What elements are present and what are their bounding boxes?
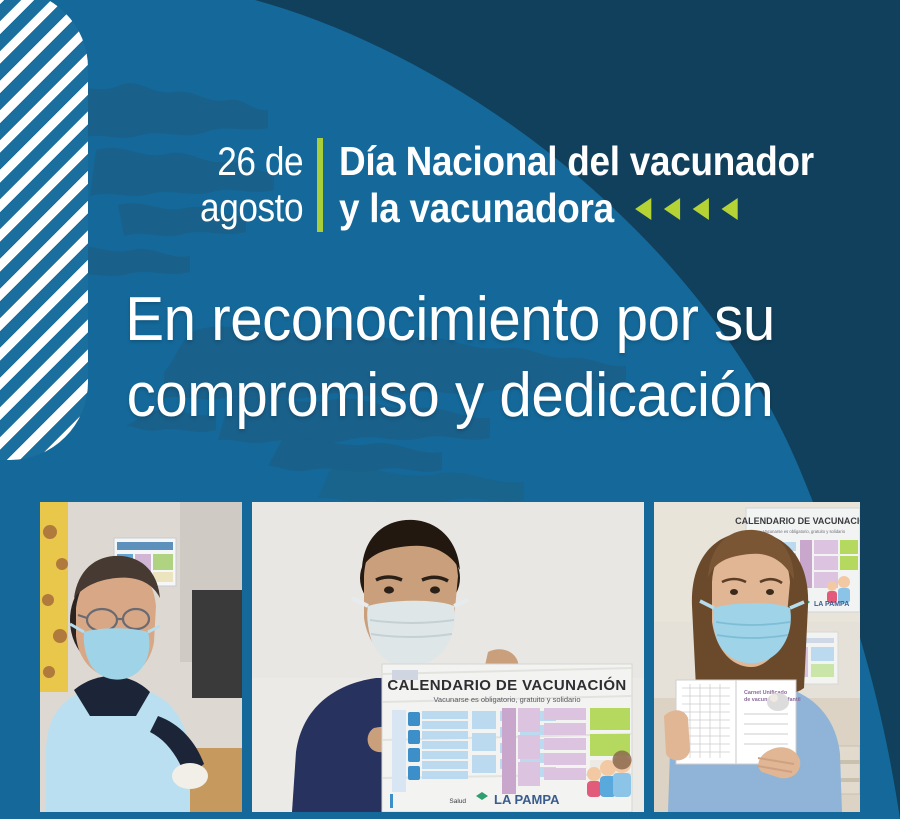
date-line-2: agosto	[200, 185, 303, 231]
poster-canvas: 26 de agosto Día Nacional del vacunador …	[0, 0, 900, 819]
green-divider-bar	[317, 138, 323, 232]
triangle-left-icon	[636, 198, 652, 220]
svg-text:LA PAMPA: LA PAMPA	[494, 792, 560, 807]
headline-line-2: compromiso y dedicación	[27, 358, 873, 434]
photo-vaccinator-holding-calendar: CALENDARIO DE VACUNACIÓN Vacunarse es ob…	[252, 502, 644, 812]
header-title-block: 26 de agosto Día Nacional del vacunador …	[186, 138, 867, 232]
date-line-1: 26 de	[200, 139, 303, 185]
date-column: 26 de agosto	[186, 138, 317, 232]
main-headline: En reconocimiento por su compromiso y de…	[0, 282, 900, 434]
triangle-left-icon	[722, 198, 738, 220]
photo-strip: CALENDARIO DE VACUNACIÓN Vacunarse es ob…	[40, 502, 864, 812]
title-line-2-wrapper: y la vacunadora	[339, 185, 814, 232]
svg-text:LA PAMPA: LA PAMPA	[814, 601, 849, 608]
triangle-left-icon	[693, 198, 709, 220]
svg-text:Salud: Salud	[449, 798, 466, 805]
svg-text:Vacunarse es obligatorio, grat: Vacunarse es obligatorio, gratuito y sol…	[763, 529, 846, 534]
headline-line-1: En reconocimiento por su	[27, 282, 873, 358]
svg-text:CALENDARIO DE VACUNACIÓN: CALENDARIO DE VACUNACIÓN	[387, 676, 626, 694]
title-line-1: Día Nacional del vacunador	[339, 138, 814, 185]
arrow-group	[636, 198, 739, 220]
title-column: Día Nacional del vacunador y la vacunado…	[339, 138, 867, 232]
photo-vaccinator-holding-card: CALENDARIO DE VACUNACIÓN Vacunarse es ob…	[654, 502, 860, 812]
svg-text:CALENDARIO DE VACUNACIÓN: CALENDARIO DE VACUNACIÓN	[735, 515, 860, 526]
triangle-left-icon	[664, 198, 680, 220]
svg-text:Vacunarse es obligatorio, grat: Vacunarse es obligatorio, gratuito y sol…	[433, 695, 580, 704]
title-line-2: y la vacunadora	[339, 185, 614, 232]
photo-nurse-vaccinating	[40, 502, 242, 812]
